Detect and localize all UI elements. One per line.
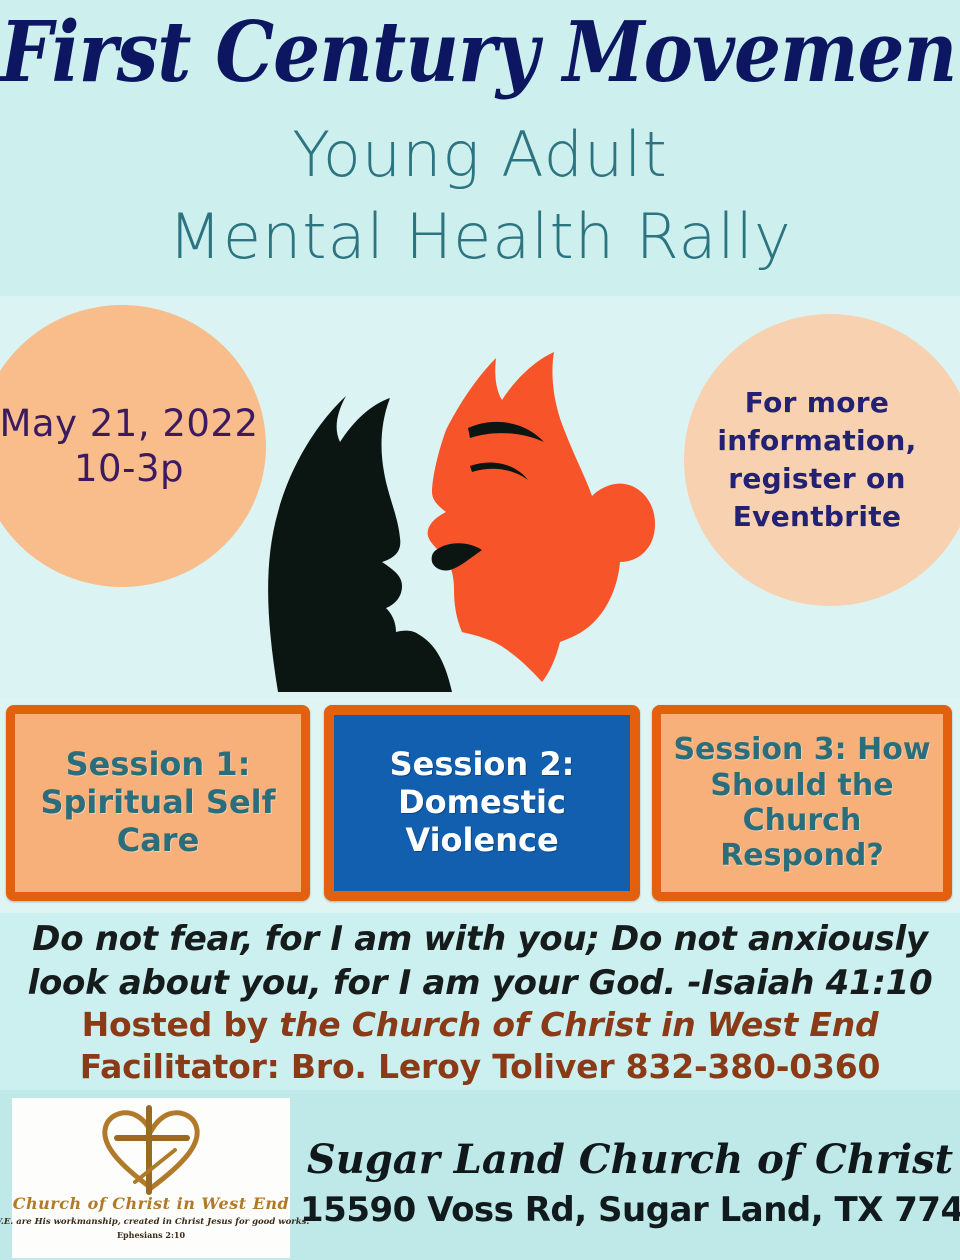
session-card-3[interactable]: Session 3: How Should the Church Respond… (652, 705, 952, 901)
registration-info-text: For more information, register on Eventb… (717, 384, 942, 535)
faces-svg (150, 300, 710, 700)
logo-tagline: W.E. are His workmanship, created in Chr… (0, 1217, 309, 1227)
orange-profile-figure (428, 352, 655, 682)
hosted-by-prefix: Hosted by (82, 1005, 280, 1044)
session-card-3-label: Session 3: How Should the Church Respond… (661, 732, 943, 874)
hosted-by-organization: the Church of Christ in West End (279, 1005, 878, 1044)
church-logo-card: Church of Christ in West End W.E. are Hi… (12, 1098, 290, 1258)
session-card-2-label: Session 2: Domestic Violence (390, 746, 575, 859)
dark-profile-figure (268, 396, 452, 692)
event-subtitle-line-1: Young Adult (0, 118, 960, 191)
flyer-canvas: First Century Movement Young Adult Menta… (0, 0, 960, 1260)
facilitator-line: Facilitator: Bro. Leroy Toliver 832-380-… (0, 1047, 960, 1086)
registration-info-badge: For more information, register on Eventb… (684, 314, 960, 606)
event-subtitle-line-2: Mental Health Rally (0, 200, 960, 273)
heart-with-cross-icon (91, 1104, 211, 1196)
venue-address: 15590 Voss Rd, Sugar Land, TX 77498 (300, 1190, 960, 1230)
hosted-by-line: Hosted by the Church of Christ in West E… (0, 1005, 960, 1044)
logo-church-name: Church of Christ in West End (13, 1194, 289, 1213)
session-card-1[interactable]: Session 1: Spiritual Self Care (6, 705, 310, 901)
logo-scripture-reference: Ephesians 2:10 (117, 1230, 185, 1240)
session-card-2[interactable]: Session 2: Domestic Violence (324, 705, 640, 901)
two-faces-illustration (150, 300, 710, 700)
scripture-quote: Do not fear, for I am with you; Do not a… (0, 918, 960, 1005)
session-card-1-label: Session 1: Spiritual Self Care (40, 746, 275, 859)
venue-name: Sugar Land Church of Christ (300, 1136, 960, 1183)
organization-title: First Century Movement (0, 5, 960, 101)
session-list: Session 1: Spiritual Self Care Session 2… (0, 705, 960, 905)
